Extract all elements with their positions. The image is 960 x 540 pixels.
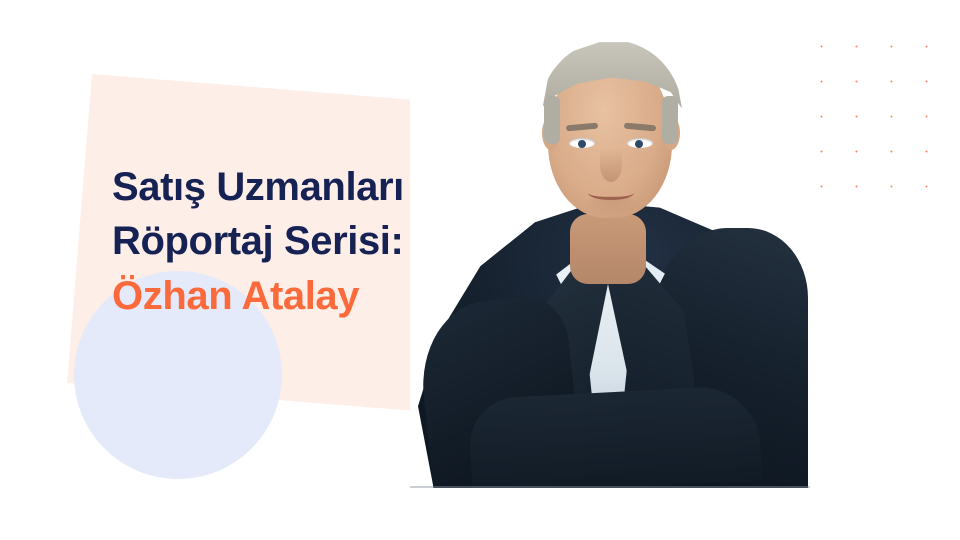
sideburn-right [662,96,678,144]
pupil-right [635,140,643,148]
nose [600,148,622,182]
chin-shadow [580,196,642,218]
headline-line-3-name: Özhan Atalay [112,269,532,323]
headline-block: Satış Uzmanları Röportaj Serisi: Özhan A… [112,160,532,323]
neck [570,214,646,284]
interview-banner: Satış Uzmanları Röportaj Serisi: Özhan A… [0,0,960,540]
headline-line-2: Röportaj Serisi: [112,214,532,268]
photo-crop-edge [410,486,810,488]
pupil-left [578,140,586,148]
sideburn-left [544,96,560,144]
folded-forearm [468,384,763,488]
headline-line-1: Satış Uzmanları [112,160,532,214]
